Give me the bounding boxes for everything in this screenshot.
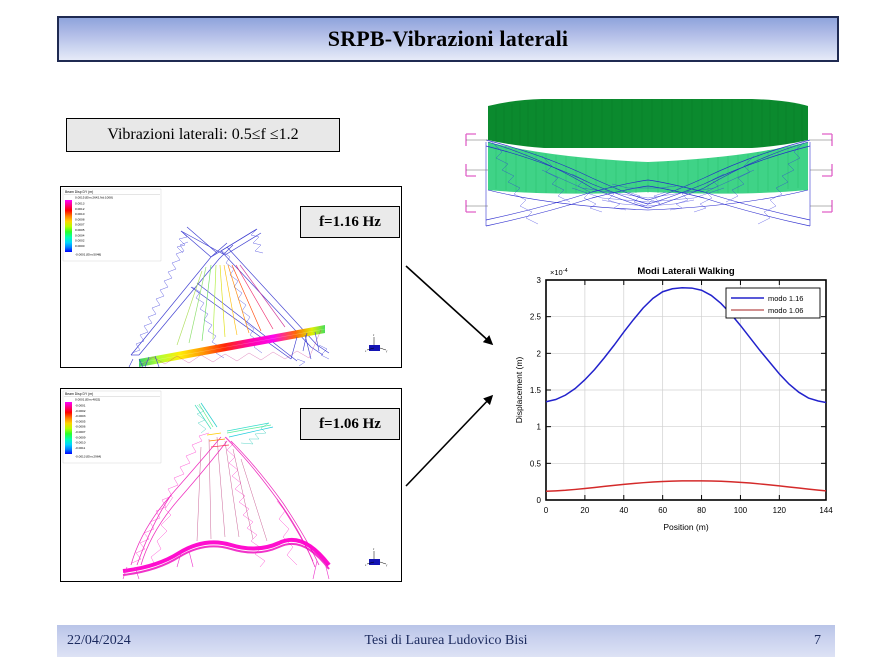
- fem-legend-value: -0.0006: [75, 425, 86, 429]
- chart-y-tick-label: 2.5: [530, 313, 542, 322]
- chart-y-tick-label: 3: [537, 276, 542, 285]
- modal-displacement-chart-svg: 00.511.522.53 020406080100120144 Modi La…: [508, 258, 840, 546]
- fem-legend-max: 0.0001 [Elm:4832]: [75, 398, 100, 402]
- slide-canvas: SRPB-Vibrazioni laterali Vibrazioni late…: [0, 0, 894, 671]
- fem-legend-value: 0.0000: [75, 244, 85, 248]
- frequency-label-106: f=1.06 Hz: [300, 408, 400, 440]
- fem-legend-value: 0.0010: [75, 212, 85, 216]
- fem-legend-value: -0.0002: [75, 409, 86, 413]
- chart-x-tick-label: 40: [619, 506, 628, 515]
- footer-page-number: 7: [814, 633, 821, 649]
- fem-legend-max: 0.0015 [Elm:2642,Nd:1008]: [75, 196, 113, 200]
- frequency-range-box: Vibrazioni laterali: 0.5≤f ≤1.2: [66, 118, 340, 152]
- frequency-label-116-text: f=1.16 Hz: [319, 214, 381, 231]
- chart-x-tick-label: 144: [819, 506, 833, 515]
- chart-x-tick-label: 0: [544, 506, 549, 515]
- slide-title-box: SRPB-Vibrazioni laterali: [57, 16, 839, 62]
- legend-label-modo-116: modo 1.16: [768, 294, 803, 303]
- fem-legend-value: 0.0002: [75, 239, 85, 243]
- fem-legend-title: Beam Disp DY (m): [65, 392, 93, 396]
- chart-y-tick-label: 0.5: [530, 459, 542, 468]
- chart-x-axis-label: Position (m): [663, 522, 709, 532]
- chart-x-tick-label: 80: [697, 506, 706, 515]
- chart-y-tick-label: 1: [537, 423, 542, 432]
- fem-legend-value: -0.0005: [75, 419, 86, 423]
- fem-legend-value: -0.0010: [75, 441, 86, 445]
- bridge-plan-svg: [452, 88, 846, 250]
- fem-legend-value: -0.0009: [75, 435, 86, 439]
- chart-y-tick-label: 1.5: [530, 386, 542, 395]
- fem-legend-min: -0.0013 [Elm:2964]: [75, 455, 101, 459]
- bridge-plan-view: [452, 88, 846, 250]
- fem-legend-value: -0.0011: [75, 446, 86, 450]
- fem-legend-min: -0.0001 [Elm:5048]: [75, 253, 101, 257]
- modal-displacement-chart: 00.511.522.53 020406080100120144 Modi La…: [508, 258, 840, 546]
- fem-legend-value: 0.0013: [75, 202, 85, 206]
- fem-legend-value: 0.0008: [75, 217, 85, 221]
- slide-footer: 22/04/2024 Tesi di Laurea Ludovico Bisi …: [57, 625, 835, 657]
- fem-legend-value: 0.0012: [75, 207, 85, 211]
- connector-arrows: [400, 248, 520, 500]
- fem-legend-value: -0.0003: [75, 414, 86, 418]
- fem-legend-116: Beam Disp DY (m) 0.0015 [Elm:2642,Nd:100…: [63, 189, 161, 261]
- chart-title: Modi Laterali Walking: [637, 266, 734, 277]
- frequency-label-106-text: f=1.06 Hz: [319, 416, 381, 433]
- footer-title: Tesi di Laurea Ludovico Bisi: [57, 633, 835, 649]
- fem-legend-title: Beam Disp DY (m): [65, 190, 93, 194]
- frequency-label-116: f=1.16 Hz: [300, 206, 400, 238]
- chart-legend[interactable]: modo 1.16 modo 1.06: [726, 288, 820, 318]
- fem-legend-value: 0.0004: [75, 233, 85, 237]
- connector-arrows-svg: [400, 248, 520, 500]
- chart-x-tick-label: 20: [580, 506, 589, 515]
- chart-x-tick-label: 100: [734, 506, 748, 515]
- chart-y-tick-label: 2: [537, 349, 542, 358]
- chart-x-tick-label: 60: [658, 506, 667, 515]
- fem-legend-value: -0.0001: [75, 404, 86, 408]
- chart-y-tick-label: 0: [537, 496, 542, 505]
- arrow-from-mode106: [406, 396, 492, 486]
- fem-legend-value: 0.0005: [75, 228, 85, 232]
- chart-x-tick-label: 120: [773, 506, 787, 515]
- chart-y-axis-label: Displacement (m): [514, 357, 524, 424]
- frequency-range-label: Vibrazioni laterali: 0.5≤f ≤1.2: [107, 126, 298, 144]
- fem-legend-106: Beam Disp DY (m) 0.0001 [Elm:4832] -0.00…: [63, 391, 161, 463]
- page-title: SRPB-Vibrazioni laterali: [328, 26, 568, 52]
- legend-label-modo-106: modo 1.06: [768, 306, 803, 315]
- arrow-from-mode116: [406, 266, 492, 344]
- fem-legend-value: 0.0007: [75, 223, 85, 227]
- fem-legend-value: -0.0007: [75, 430, 86, 434]
